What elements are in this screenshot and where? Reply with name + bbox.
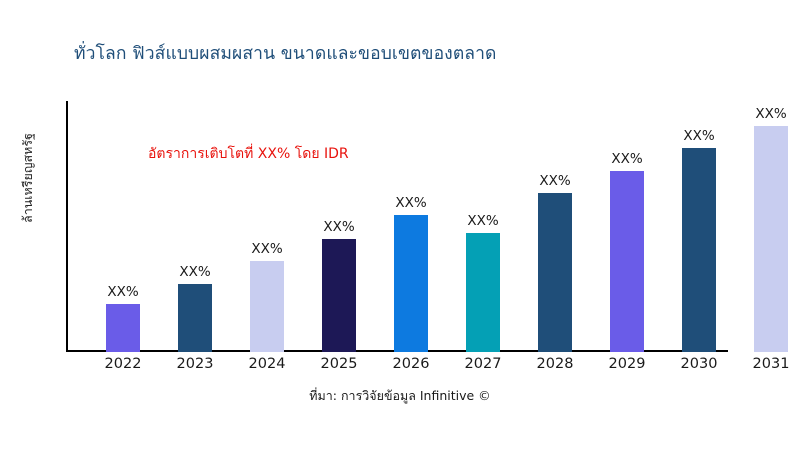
y-axis-line [66, 101, 68, 352]
bar-value-label: XX% [395, 195, 426, 211]
bar[interactable] [466, 233, 500, 352]
x-tick-label-2029: 2029 [595, 356, 659, 372]
bar[interactable] [106, 304, 140, 352]
x-tick-label-2022: 2022 [91, 356, 155, 372]
bar[interactable] [538, 193, 572, 352]
x-tick-label-2028: 2028 [523, 356, 587, 372]
x-axis-tick-labels: 2022202320242025202620272028202920302031 [66, 356, 794, 378]
bar-value-label: XX% [755, 106, 786, 122]
bar-value-label: XX% [179, 264, 210, 280]
growth-rate-annotation: อัตราการเติบโตที่ XX% โดย IDR [148, 143, 349, 165]
page-title: ทั่วโลก ฟิวส์แบบผสมผสาน ขนาดและขอบเขตของ… [74, 42, 497, 67]
bar-value-label: XX% [251, 241, 282, 257]
chart-page: ทั่วโลก ฟิวส์แบบผสมผสาน ขนาดและขอบเขตของ… [0, 0, 800, 450]
x-tick-label-2023: 2023 [163, 356, 227, 372]
bar[interactable] [682, 148, 716, 352]
bar-value-label: XX% [683, 128, 714, 144]
x-tick-label-2031: 2031 [739, 356, 800, 372]
bar-value-label: XX% [107, 284, 138, 300]
bar[interactable] [394, 215, 428, 352]
bar[interactable] [754, 126, 788, 352]
x-tick-label-2025: 2025 [307, 356, 371, 372]
y-axis-label: ล้านเหรียญสหรัฐ [18, 118, 38, 238]
bar[interactable] [610, 171, 644, 352]
bar[interactable] [178, 284, 212, 352]
bar[interactable] [250, 261, 284, 352]
x-tick-label-2026: 2026 [379, 356, 443, 372]
x-tick-label-2024: 2024 [235, 356, 299, 372]
source-note: ที่มา: การวิจัยข้อมูล Infinitive © [0, 386, 800, 406]
bar-value-label: XX% [539, 173, 570, 189]
bar-value-label: XX% [467, 213, 498, 229]
x-tick-label-2027: 2027 [451, 356, 515, 372]
plot-area: XX%XX%XX%XX%XX%XX%XX%XX%XX%XX% [66, 100, 794, 352]
x-tick-label-2030: 2030 [667, 356, 731, 372]
bar-value-label: XX% [611, 151, 642, 167]
bar[interactable] [322, 239, 356, 352]
bar-value-label: XX% [323, 219, 354, 235]
